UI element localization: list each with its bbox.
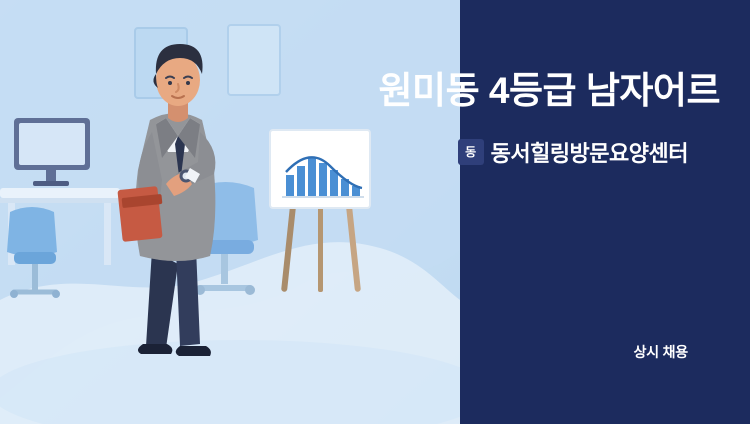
page-title: 원미동 4등급 남자어르	[280, 70, 720, 113]
promo-banner: 원미동 4등급 남자어르 동 동서힐링방문요양센터 상시 채용	[0, 0, 750, 424]
brand-name: 동서힐링방문요양센터	[491, 136, 688, 168]
brand-row: 동 동서힐링방문요양센터	[458, 136, 688, 168]
illustration-businessman	[0, 0, 460, 424]
illustration-svg	[0, 0, 460, 424]
brand-mark-icon: 동	[458, 139, 484, 165]
recruitment-status-label: 상시 채용	[634, 342, 688, 362]
